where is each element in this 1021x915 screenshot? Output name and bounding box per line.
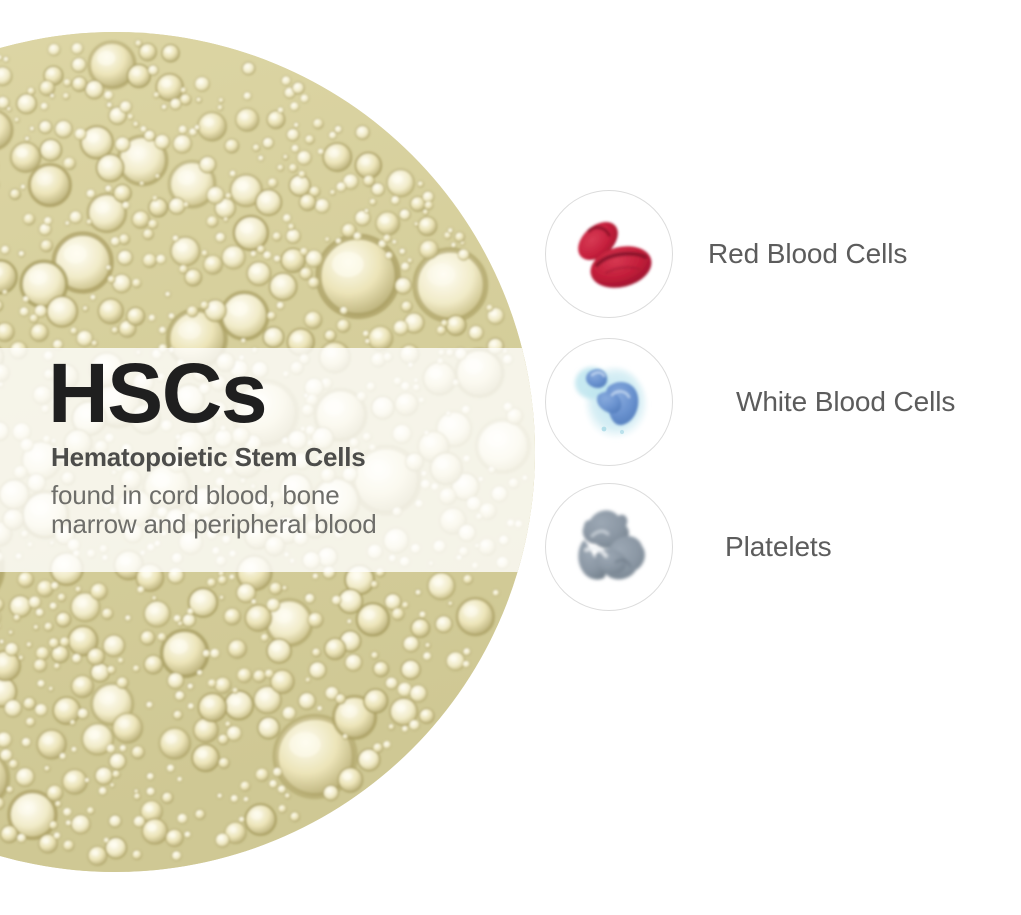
legend-item-red-blood-cells[interactable]: Red Blood Cells (545, 190, 907, 318)
hero-subtitle: Hematopoietic Stem Cells (51, 442, 478, 473)
platelets-icon (545, 483, 673, 611)
white-blood-cells-icon (545, 338, 673, 466)
hero-description: found in cord blood, bone marrow and per… (51, 481, 478, 539)
legend-label-platelets: Platelets (725, 531, 832, 563)
infographic-canvas: HSCs Hematopoietic Stem Cells found in c… (0, 0, 1021, 915)
hero-description-line-1: found in cord blood, bone (51, 481, 478, 510)
legend-item-white-blood-cells[interactable]: White Blood Cells (545, 338, 955, 466)
hero-description-line-2: marrow and peripheral blood (51, 510, 478, 539)
page-title: HSCs (48, 352, 478, 434)
legend-label-white-blood-cells: White Blood Cells (736, 386, 955, 418)
legend-item-platelets[interactable]: Platelets (545, 483, 832, 611)
legend-label-red-blood-cells: Red Blood Cells (708, 238, 907, 270)
red-blood-cells-icon (545, 190, 673, 318)
hero-text-block: HSCs Hematopoietic Stem Cells found in c… (48, 352, 478, 540)
